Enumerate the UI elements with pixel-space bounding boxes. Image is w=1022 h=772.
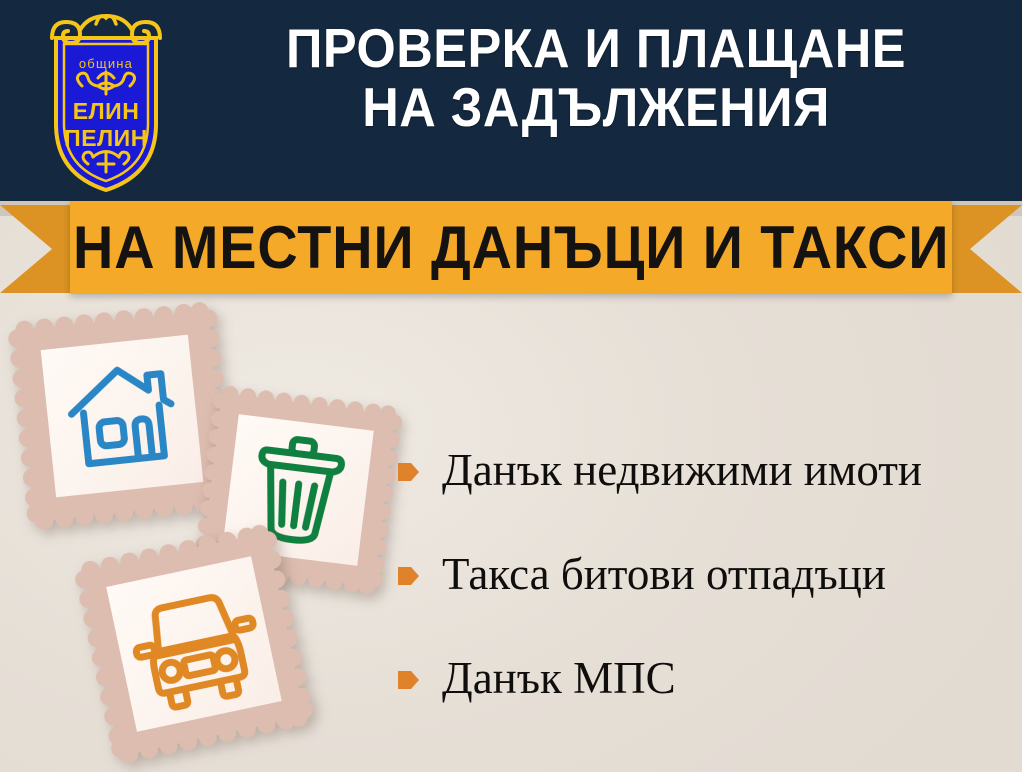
ribbon-label: НА МЕСТНИ ДАНЪЦИ И ТАКСИ: [73, 213, 949, 282]
coat-of-arms: община ЕЛИН ПЕЛИН: [26, 6, 186, 194]
crest-name-line2: ПЕЛИН: [64, 125, 148, 151]
crest-word-municipality: община: [79, 56, 133, 71]
page-title-line-2: НА ЗАДЪЛЖЕНИЯ: [219, 78, 973, 137]
tax-types-list: Данък недвижими имоти Такса битови отпад…: [398, 418, 1012, 730]
stamp-card-car: [68, 518, 319, 769]
list-item: Такса битови отпадъци: [398, 522, 1012, 626]
list-item-label: Данък МПС: [442, 656, 676, 701]
list-item: Данък МПС: [398, 626, 1012, 730]
page-title: ПРОВЕРКА И ПЛАЩАНЕ НА ЗАДЪЛЖЕНИЯ: [219, 19, 973, 138]
page-title-line-1: ПРОВЕРКА И ПЛАЩАНЕ: [219, 19, 973, 78]
list-item: Данък недвижими имоти: [398, 418, 1012, 522]
ribbon-band: НА МЕСТНИ ДАНЪЦИ И ТАКСИ: [70, 200, 952, 294]
arrow-bullet-icon: [398, 460, 420, 484]
arrow-bullet-icon: [398, 668, 420, 692]
poster-canvas: община ЕЛИН ПЕЛИН: [0, 0, 1022, 772]
stamp-icon-group: [0, 300, 420, 770]
header-bar: община ЕЛИН ПЕЛИН: [0, 0, 1022, 201]
crest-name-line1: ЕЛИН: [73, 98, 140, 124]
list-item-label: Данък недвижими имоти: [442, 448, 922, 493]
ribbon-banner: НА МЕСТНИ ДАНЪЦИ И ТАКСИ: [0, 200, 1022, 308]
list-item-label: Такса битови отпадъци: [442, 552, 886, 597]
arrow-bullet-icon: [398, 564, 420, 588]
